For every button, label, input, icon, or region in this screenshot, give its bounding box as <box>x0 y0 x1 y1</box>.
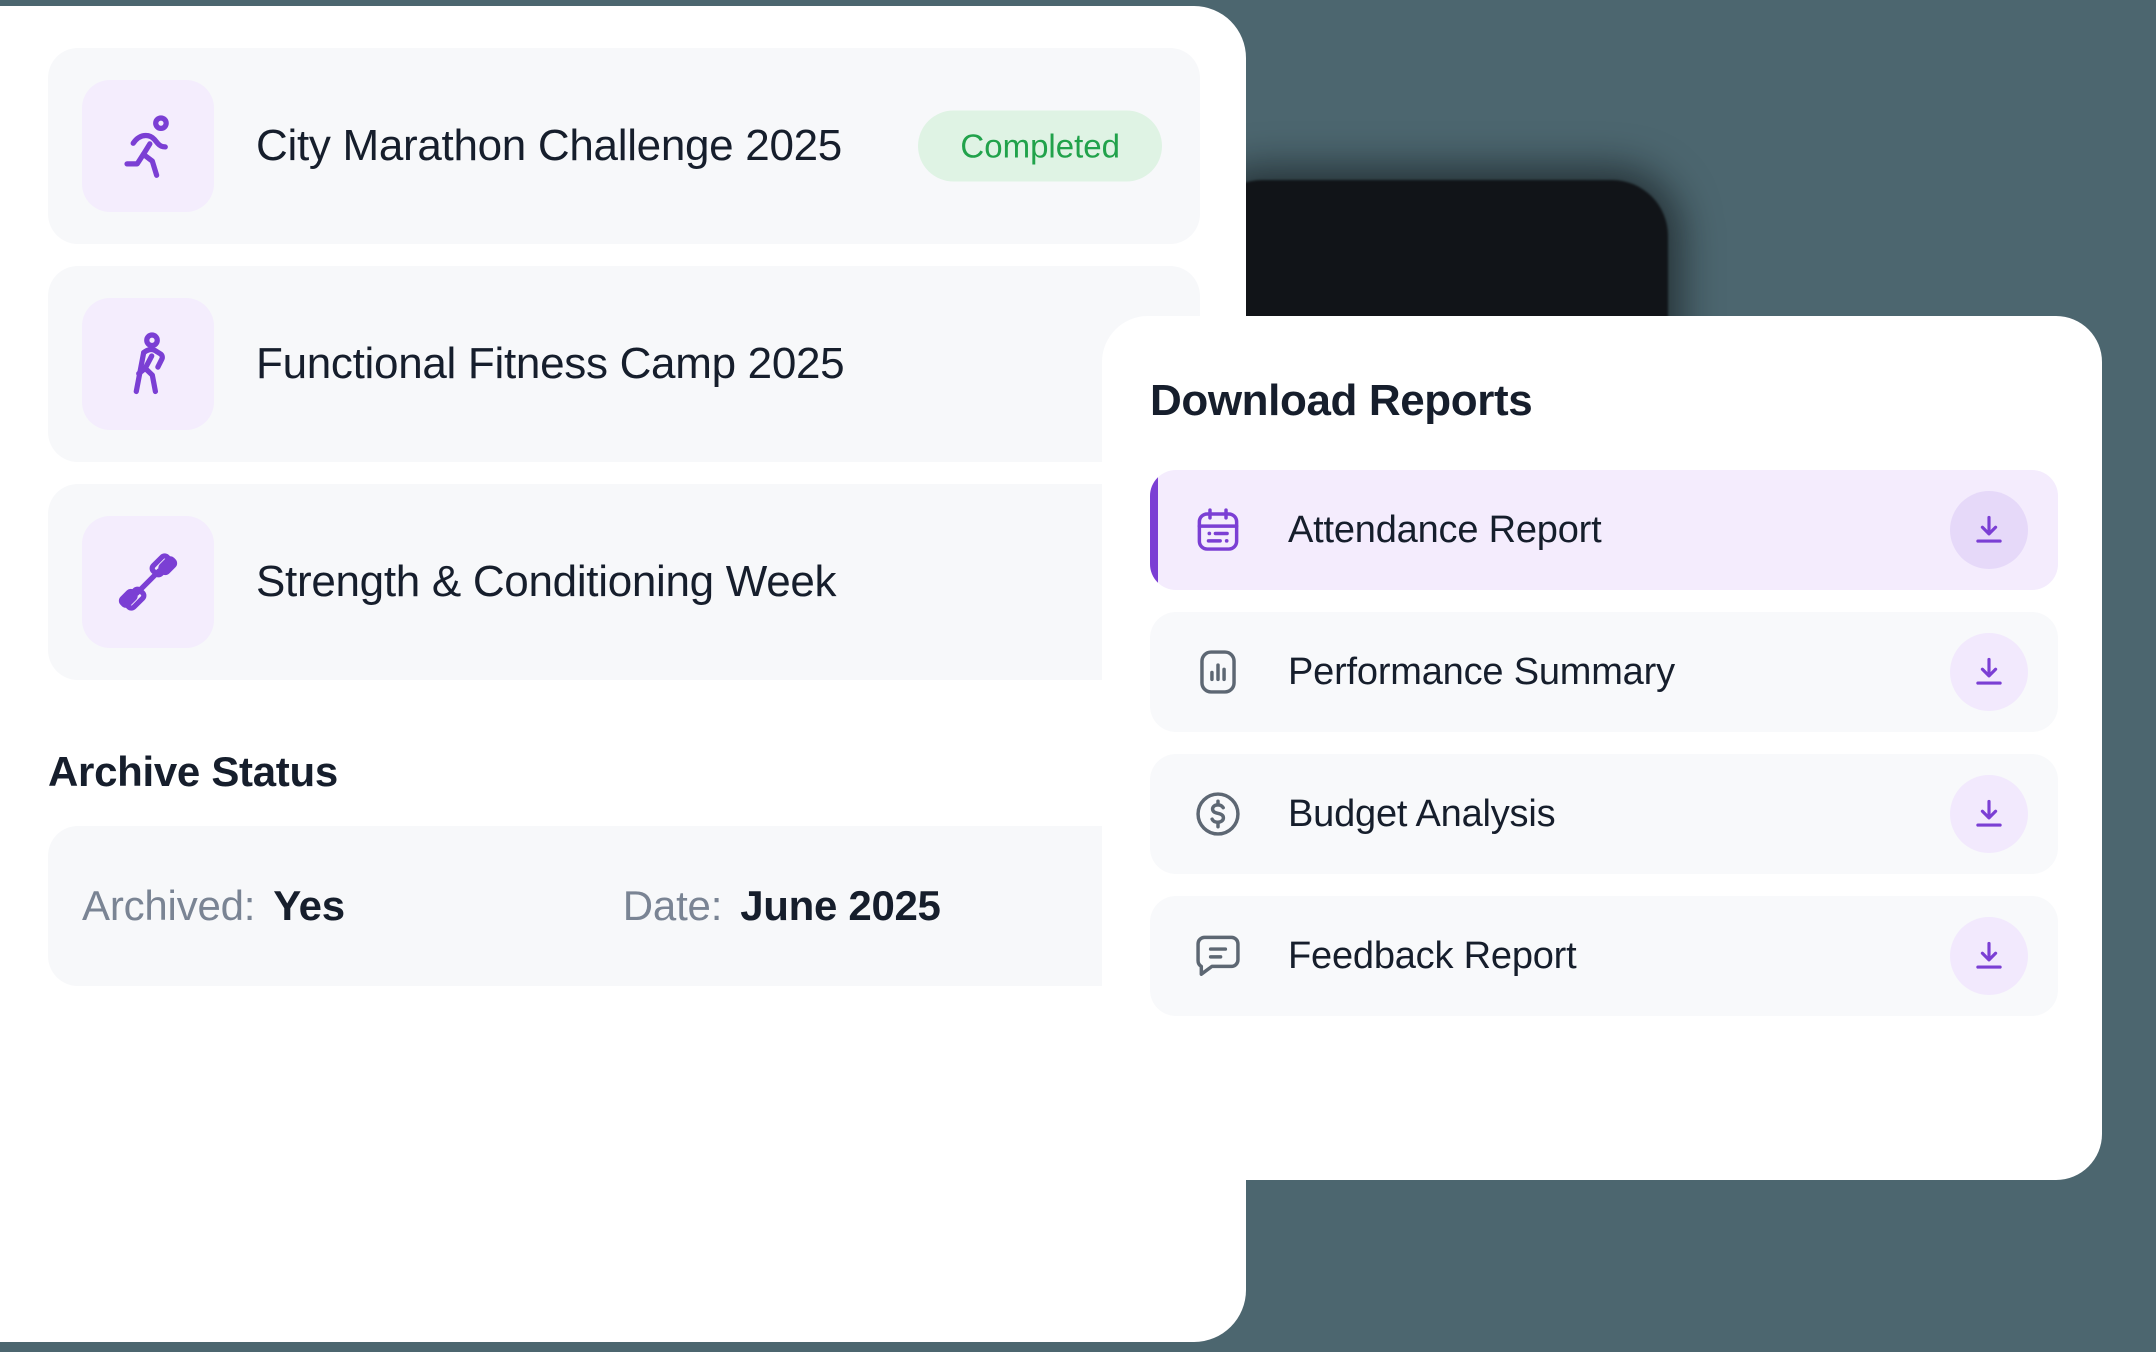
event-title: Functional Fitness Camp 2025 <box>256 339 844 389</box>
download-icon <box>1971 654 2007 690</box>
event-title: Strength & Conditioning Week <box>256 557 836 607</box>
archive-status-section: Archive Status Archived: Yes Date: June … <box>48 748 1200 986</box>
download-reports-panel: Download Reports Attendance Report <box>1102 316 2102 1180</box>
archived-label: Archived: <box>82 882 255 930</box>
report-row-performance[interactable]: Performance Summary <box>1150 612 2058 732</box>
download-reports-title: Download Reports <box>1150 376 2058 426</box>
event-icon-tile <box>82 298 214 430</box>
event-row[interactable]: City Marathon Challenge 2025 Completed <box>48 48 1200 244</box>
download-button[interactable] <box>1950 491 2028 569</box>
report-row-feedback[interactable]: Feedback Report <box>1150 896 2058 1016</box>
report-label: Budget Analysis <box>1288 793 1555 836</box>
running-person-icon <box>111 109 185 183</box>
event-icon-tile <box>82 80 214 212</box>
status-badge: Completed <box>918 111 1162 182</box>
event-row[interactable]: Strength & Conditioning Week <box>48 484 1200 680</box>
download-button[interactable] <box>1950 633 2028 711</box>
download-icon <box>1971 512 2007 548</box>
dollar-circle-icon <box>1192 788 1244 840</box>
report-list: Attendance Report <box>1150 470 2058 1016</box>
date-label: Date: <box>623 882 722 930</box>
date-value: June 2025 <box>740 882 940 930</box>
report-row-attendance[interactable]: Attendance Report <box>1150 470 2058 590</box>
download-icon <box>1971 938 2007 974</box>
hiking-person-icon <box>111 327 185 401</box>
event-title: City Marathon Challenge 2025 <box>256 121 842 171</box>
date-field: Date: June 2025 <box>623 882 941 930</box>
archive-status-panel: Archived: Yes Date: June 2025 <box>48 826 1200 986</box>
archive-status-heading: Archive Status <box>48 748 1200 796</box>
report-label: Performance Summary <box>1288 651 1675 694</box>
download-button[interactable] <box>1950 775 2028 853</box>
report-label: Feedback Report <box>1288 935 1577 978</box>
bar-chart-icon <box>1192 646 1244 698</box>
archived-field: Archived: Yes <box>82 882 345 930</box>
calendar-icon <box>1192 504 1244 556</box>
chat-lines-icon <box>1192 930 1244 982</box>
event-icon-tile <box>82 516 214 648</box>
download-icon <box>1971 796 2007 832</box>
archived-value: Yes <box>273 882 345 930</box>
event-row[interactable]: Functional Fitness Camp 2025 <box>48 266 1200 462</box>
events-card: City Marathon Challenge 2025 Completed <box>0 6 1246 1342</box>
report-label: Attendance Report <box>1288 509 1601 552</box>
download-button[interactable] <box>1950 917 2028 995</box>
event-list: City Marathon Challenge 2025 Completed <box>48 48 1200 680</box>
report-row-budget[interactable]: Budget Analysis <box>1150 754 2058 874</box>
dumbbell-icon <box>111 545 185 619</box>
